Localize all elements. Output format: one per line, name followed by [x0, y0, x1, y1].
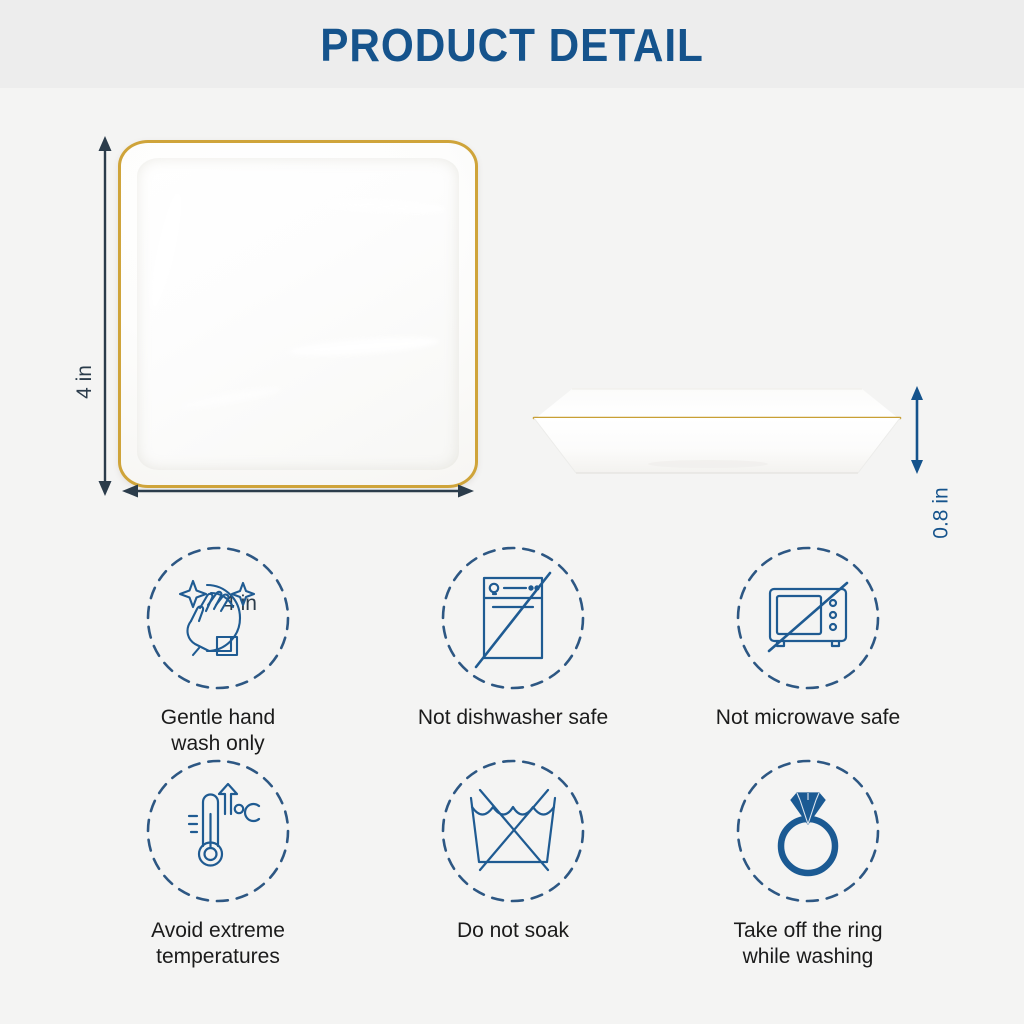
page-title: PRODUCT DETAIL: [41, 18, 983, 72]
care-instructions-grid: Gentle hand wash only: [0, 540, 1024, 1024]
no-microwave-icon: [735, 545, 881, 691]
care-caption: Do not soak: [363, 918, 663, 944]
care-caption: Gentle hand wash only: [68, 705, 368, 758]
care-caption: Not microwave safe: [658, 705, 958, 731]
dimension-line-depth: [906, 386, 928, 474]
product-stage: 4 in 4 in 0.8 in: [0, 88, 1024, 540]
care-item-no-microwave: Not microwave safe: [658, 545, 958, 731]
dimension-label-height: 4 in: [73, 365, 97, 399]
care-item-remove-ring: Take off the ring while washing: [658, 758, 958, 971]
care-caption: Not dishwasher safe: [363, 705, 663, 731]
care-item-avoid-extreme-temperatures: Avoid extreme temperatures: [68, 758, 368, 971]
remove-ring-icon: [735, 758, 881, 904]
dish-top-view-image: [118, 140, 478, 488]
care-item-hand-wash: Gentle hand wash only: [68, 545, 368, 758]
no-dishwasher-icon: [440, 545, 586, 691]
dish-side-view-image: [528, 378, 906, 478]
care-caption-line: Gentle hand: [68, 705, 368, 731]
care-caption-line: Do not soak: [363, 918, 663, 944]
dimension-line-height: [92, 136, 118, 496]
care-caption-line: Take off the ring: [658, 918, 958, 944]
care-item-do-not-soak: Do not soak: [363, 758, 663, 944]
care-caption-line: temperatures: [68, 944, 368, 970]
care-caption-line: while washing: [658, 944, 958, 970]
care-caption: Avoid extreme temperatures: [68, 918, 368, 971]
care-caption-line: wash only: [68, 731, 368, 757]
care-caption-line: Not microwave safe: [658, 705, 958, 731]
no-soak-icon: [440, 758, 586, 904]
thermometer-icon: [145, 758, 291, 904]
care-item-no-dishwasher: Not dishwasher safe: [363, 545, 663, 731]
hand-wash-icon: [145, 545, 291, 691]
care-caption-line: Avoid extreme: [68, 918, 368, 944]
care-caption-line: Not dishwasher safe: [363, 705, 663, 731]
care-caption: Take off the ring while washing: [658, 918, 958, 971]
dimension-line-width: [122, 480, 474, 502]
dimension-label-depth: 0.8 in: [931, 487, 953, 538]
